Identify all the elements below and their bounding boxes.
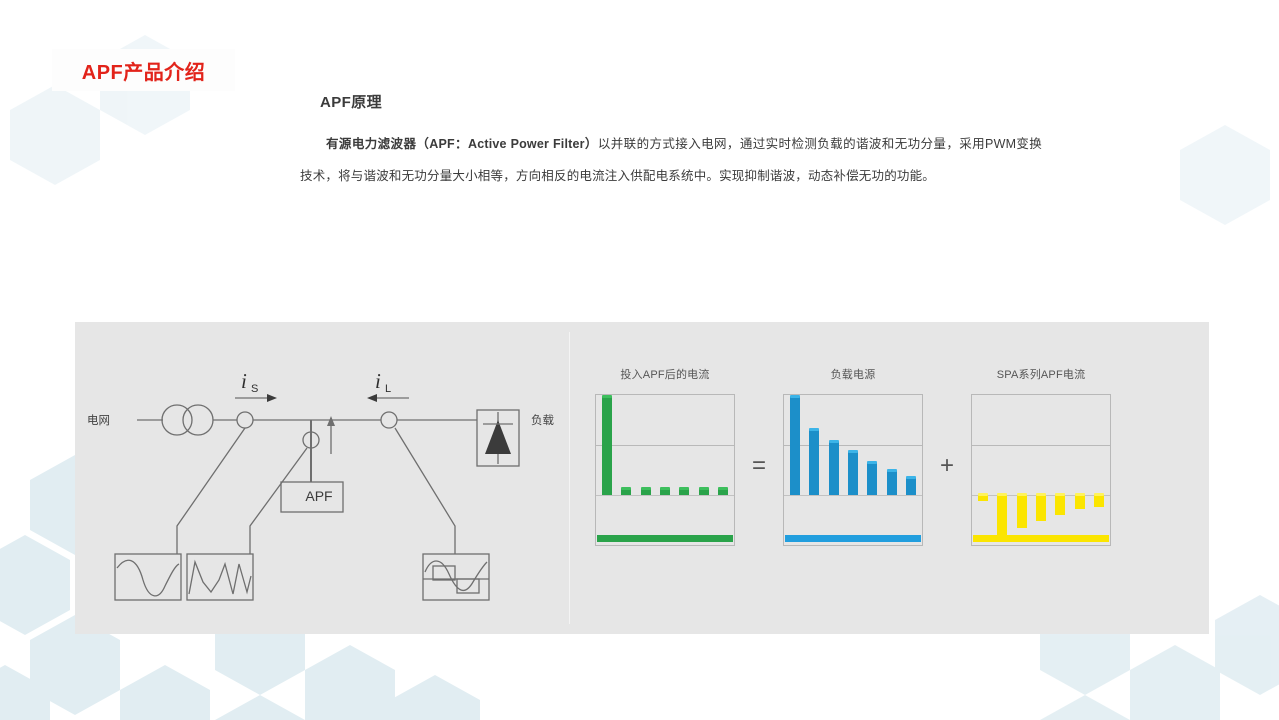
bar-slot bbox=[867, 395, 877, 545]
bar-slot bbox=[906, 395, 916, 545]
current-load-symbol: i bbox=[375, 369, 381, 393]
panel-divider bbox=[569, 332, 570, 624]
bar bbox=[1017, 495, 1027, 528]
chart-title-green: 投入APF后的电流 bbox=[595, 368, 735, 386]
bar-slot bbox=[679, 395, 689, 545]
chart-plot-green bbox=[595, 394, 735, 546]
bar bbox=[829, 442, 839, 495]
bar-slot bbox=[602, 395, 612, 545]
bar-slot bbox=[1055, 395, 1065, 545]
current-load-subscript: L bbox=[385, 383, 391, 395]
transformer-coil-right bbox=[183, 405, 213, 435]
waveform-chopped-pulse-1 bbox=[433, 566, 455, 580]
bar-slot bbox=[790, 395, 800, 545]
card-heading: APF原理 bbox=[320, 91, 1052, 112]
card-body: 有源电力滤波器（APF：Active Power Filter）以并联的方式接入… bbox=[300, 128, 1042, 192]
bar bbox=[906, 478, 916, 495]
bar bbox=[621, 489, 631, 495]
bars-green bbox=[602, 395, 728, 545]
load-label: 负载 bbox=[531, 412, 554, 428]
current-source-symbol: i bbox=[241, 369, 247, 393]
bars-yellow bbox=[978, 395, 1104, 545]
bar bbox=[997, 495, 1007, 535]
bar-slot bbox=[660, 395, 670, 545]
waveform-sine-trace bbox=[117, 560, 179, 596]
lead-to-waveform-1 bbox=[177, 428, 245, 554]
chart-title-blue: 负载电源 bbox=[783, 368, 923, 386]
bar bbox=[978, 495, 988, 501]
diagram-panel: i S i L 电网 负载 APF 投入APF后的电流 bbox=[75, 322, 1209, 634]
bar bbox=[848, 452, 858, 495]
waveform-chopped-pulse-2 bbox=[457, 579, 479, 593]
bar bbox=[867, 463, 877, 495]
bar-slot bbox=[1017, 395, 1027, 545]
baseline-blue bbox=[785, 535, 921, 542]
ct-sensor-load bbox=[381, 412, 397, 428]
bar-slot bbox=[887, 395, 897, 545]
current-source-subscript: S bbox=[251, 383, 258, 395]
equals-sign: = bbox=[747, 452, 771, 480]
section-title-badge: APF产品介绍 bbox=[52, 49, 235, 91]
bar bbox=[699, 489, 709, 495]
bar bbox=[1036, 495, 1046, 521]
grid-label: 电网 bbox=[87, 412, 110, 428]
bar-slot bbox=[1036, 395, 1046, 545]
plus-sign: + bbox=[935, 452, 959, 480]
bar bbox=[809, 430, 819, 495]
chart-title-yellow: SPA系列APF电流 bbox=[971, 368, 1111, 386]
load-thyristor-triangle bbox=[485, 420, 511, 454]
bar bbox=[660, 489, 670, 495]
bar bbox=[679, 489, 689, 495]
bar-slot bbox=[848, 395, 858, 545]
chart-apf-output-current: 投入APF后的电流 bbox=[595, 368, 735, 546]
bar-slot bbox=[641, 395, 651, 545]
lead-to-waveform-3 bbox=[395, 428, 455, 554]
chart-load-supply-current: 负载电源 bbox=[783, 368, 923, 546]
bar bbox=[718, 489, 728, 495]
bar-slot bbox=[621, 395, 631, 545]
baseline-green bbox=[597, 535, 733, 542]
bar bbox=[602, 397, 612, 495]
bar bbox=[1094, 495, 1104, 507]
waveform-distorted-trace bbox=[189, 562, 251, 594]
apf-injection-arrowhead bbox=[327, 416, 335, 426]
bar bbox=[641, 489, 651, 495]
baseline-yellow bbox=[973, 535, 1109, 542]
ct-sensor-source bbox=[237, 412, 253, 428]
il-arrowhead bbox=[367, 394, 377, 402]
chart-spa-apf-current: SPA系列APF电流 bbox=[971, 368, 1111, 546]
bar-slot bbox=[699, 395, 709, 545]
bar bbox=[790, 397, 800, 495]
bar-slot bbox=[1094, 395, 1104, 545]
chart-plot-blue bbox=[783, 394, 923, 546]
chart-plot-yellow bbox=[971, 394, 1111, 546]
bar-slot bbox=[1075, 395, 1085, 545]
apf-circuit-diagram: i S i L 电网 负载 APF bbox=[85, 342, 565, 617]
is-arrowhead bbox=[267, 394, 277, 402]
current-waveform-charts: 投入APF后的电流 = 负载电源 bbox=[595, 368, 1195, 588]
bar-slot bbox=[997, 395, 1007, 545]
apf-principle-card: APF原理 有源电力滤波器（APF：Active Power Filter）以并… bbox=[262, 69, 1080, 241]
bar-slot bbox=[809, 395, 819, 545]
card-body-bold: 有源电力滤波器（APF：Active Power Filter） bbox=[326, 137, 598, 151]
section-title-text: APF产品介绍 bbox=[82, 56, 206, 85]
bar-slot bbox=[718, 395, 728, 545]
bar bbox=[1075, 495, 1085, 509]
bar-slot bbox=[829, 395, 839, 545]
bar bbox=[1055, 495, 1065, 515]
bar-slot bbox=[978, 395, 988, 545]
circuit-svg: i S i L bbox=[85, 342, 565, 617]
bars-blue bbox=[790, 395, 916, 545]
apf-box-label: APF bbox=[288, 488, 350, 504]
bar bbox=[887, 471, 897, 495]
